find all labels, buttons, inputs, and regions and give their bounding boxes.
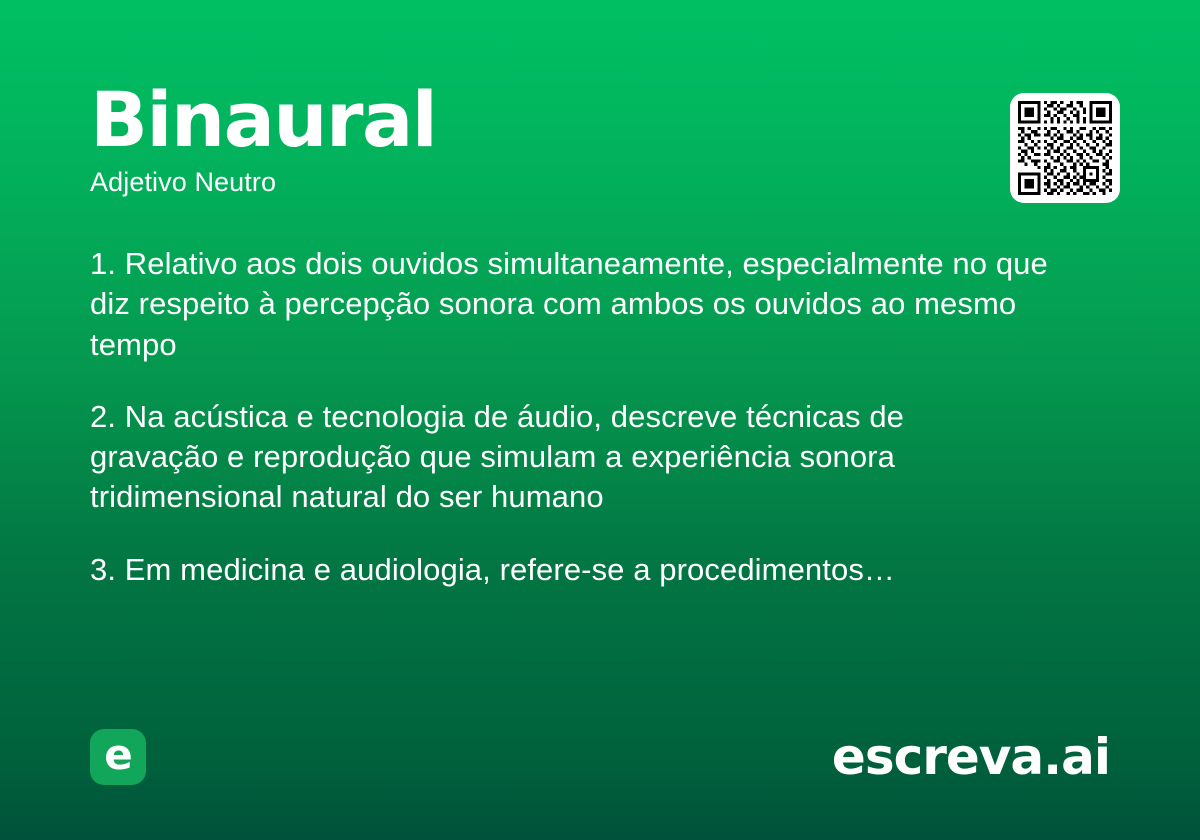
definition-item: 1. Relativo aos dois ouvidos simultaneam… [90,244,1090,365]
logo-letter: e [104,734,132,776]
definition-item: 3. Em medicina e audiologia, refere-se a… [90,550,1050,590]
qr-code-icon [1018,101,1112,195]
word-definition-card: Binaural Adjetivo Neutro [0,0,1200,840]
card-footer: e escreva.ai [90,728,1110,786]
escreva-logo-icon: e [90,729,146,785]
definition-item: 2. Na acústica e tecnologia de áudio, de… [90,397,1020,518]
definition-list: 1. Relativo aos dois ouvidos simultaneam… [90,244,1090,590]
brand-wordmark: escreva.ai [832,732,1110,782]
page-title: Binaural [90,82,1110,158]
qr-code[interactable] [1010,93,1120,203]
word-class-label: Adjetivo Neutro [90,168,1110,198]
card-header: Binaural Adjetivo Neutro [90,82,1110,198]
